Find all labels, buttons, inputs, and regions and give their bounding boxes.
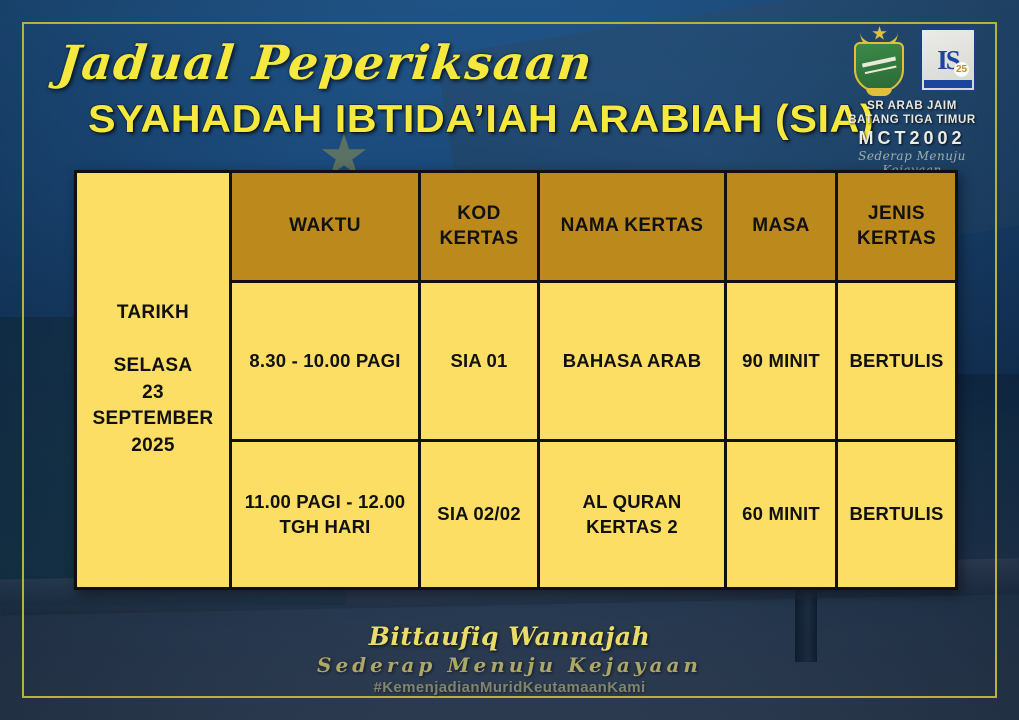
column-header-kod-kertas: KOD KERTAS (421, 170, 540, 283)
cell-waktu-value-line1: 11.00 PAGI - 12.00 (245, 490, 406, 514)
cell-jenis-kertas-value: BERTULIS (849, 349, 943, 373)
footer-motto-malay: Sederap Menuju Kejayaan (0, 653, 1019, 677)
cell-nama-kertas-value: BAHASA ARAB (563, 349, 702, 373)
column-header-kod-line2: KERTAS (439, 227, 518, 252)
column-header-jenis-kertas: JENIS KERTAS (838, 170, 958, 283)
cell-jenis-kertas: BERTULIS (838, 283, 958, 442)
cell-nama-kertas-value-line2: KERTAS 2 (583, 515, 682, 539)
cell-nama-kertas: AL QURAN KERTAS 2 (540, 442, 727, 590)
column-header-masa-label: MASA (752, 214, 810, 239)
schedule-table: TARIKH SELASA 23 SEPTEMBER 2025 WAKTU KO… (74, 170, 958, 590)
is-logo-bar (924, 80, 972, 88)
table-header-row: WAKTU KOD KERTAS NAMA KERTAS MASA JENIS (232, 170, 958, 283)
cell-masa: 90 MINIT (727, 283, 838, 442)
date-value: SELASA 23 SEPTEMBER 2025 (81, 353, 225, 461)
cell-nama-kertas: BAHASA ARAB (540, 283, 727, 442)
table-grid: WAKTU KOD KERTAS NAMA KERTAS MASA JENIS (232, 170, 958, 590)
crest-shield-icon (854, 42, 904, 92)
cell-nama-kertas-value-line1: AL QURAN (583, 490, 682, 514)
cell-kod-kertas: SIA 02/02 (421, 442, 540, 590)
column-header-masa: MASA (727, 170, 838, 283)
cell-masa-value: 60 MINIT (742, 502, 820, 526)
page-title: SYAHADAH IBTIDA’IAH ARABIAH (SIA) (88, 98, 874, 142)
date-date: 23 SEPTEMBER (81, 380, 225, 434)
school-name-line-2: BATANG TIGA TIMUR (837, 114, 987, 128)
exam-schedule-poster: Jadual Peperiksaan SYAHADAH IBTIDA’IAH A… (0, 0, 1019, 720)
column-header-kod-line1: KOD (439, 202, 518, 227)
column-header-nama-kertas: NAMA KERTAS (540, 170, 727, 283)
column-header-jenis-line2: KERTAS (857, 227, 936, 252)
is-logo-anniversary-badge: 25 (954, 62, 969, 77)
footer-hashtag: #KemenjadianMuridKeutamaanKami (0, 679, 1019, 696)
cell-masa-value: 90 MINIT (742, 349, 820, 373)
table-row: 11.00 PAGI - 12.00 TGH HARI SIA 02/02 AL… (232, 442, 958, 590)
melaka-state-crest-icon (848, 28, 910, 98)
column-header-nama-label: NAMA KERTAS (561, 214, 704, 239)
school-code: MCT2002 (837, 128, 987, 149)
column-header-jenis-line1: JENIS (857, 202, 936, 227)
cell-waktu-value: 8.30 - 10.00 PAGI (249, 349, 400, 373)
cell-kod-kertas-value: SIA 02/02 (437, 502, 520, 526)
is-25-logo-icon: IS 25 (920, 28, 976, 92)
cell-jenis-kertas: BERTULIS (838, 442, 958, 590)
date-year: 2025 (81, 433, 225, 460)
date-day: SELASA (81, 353, 225, 380)
column-header-waktu-label: WAKTU (289, 214, 361, 239)
footer-motto-arabic: Bittaufiq Wannajah (0, 622, 1019, 651)
logo-row: IS 25 (837, 28, 987, 100)
school-logo-block: IS 25 SR ARAB JAIM BATANG TIGA TIMUR MCT… (837, 28, 987, 156)
school-name-line-1: SR ARAB JAIM (837, 100, 987, 114)
cell-waktu: 11.00 PAGI - 12.00 TGH HARI (232, 442, 421, 590)
column-header-waktu: WAKTU (232, 170, 421, 283)
poster-footer: Bittaufiq Wannajah Sederap Menuju Kejaya… (0, 622, 1019, 696)
cell-waktu: 8.30 - 10.00 PAGI (232, 283, 421, 442)
cell-waktu-value-line2: TGH HARI (245, 515, 406, 539)
table-row: 8.30 - 10.00 PAGI SIA 01 BAHASA ARAB 90 … (232, 283, 958, 442)
cell-masa: 60 MINIT (727, 442, 838, 590)
crest-base-icon (866, 88, 892, 96)
cell-kod-kertas-value: SIA 01 (450, 349, 507, 373)
cell-kod-kertas: SIA 01 (421, 283, 540, 442)
cell-jenis-kertas-value: BERTULIS (849, 502, 943, 526)
date-label: TARIKH (117, 300, 189, 327)
title-script: Jadual Peperiksaan (55, 36, 596, 91)
date-cell: TARIKH SELASA 23 SEPTEMBER 2025 (74, 170, 232, 590)
